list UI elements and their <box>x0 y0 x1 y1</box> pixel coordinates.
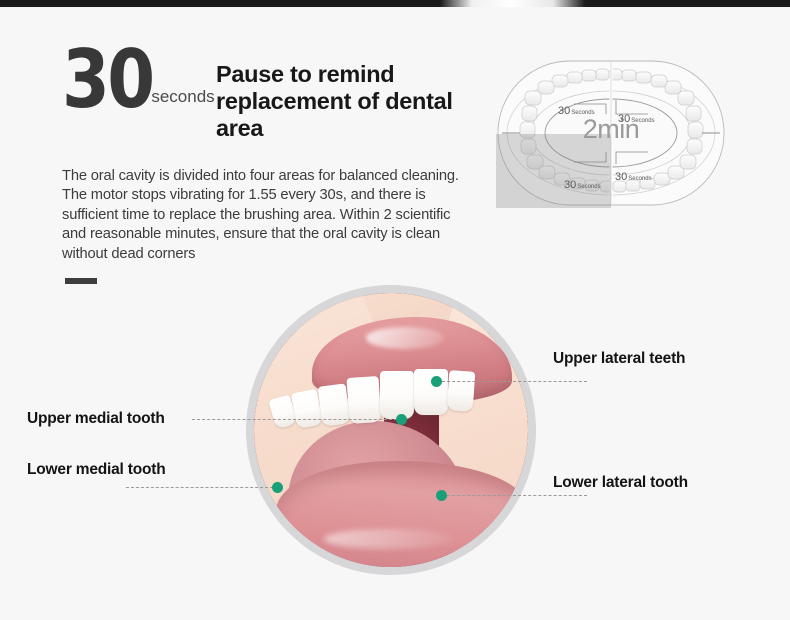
upper-tooth <box>346 376 381 424</box>
dental-arch-diagram: 2min 30Seconds 30Seconds 30Seconds 30Sec… <box>496 58 726 208</box>
page-title: Pause to remind replacement of dental ar… <box>216 61 456 141</box>
upper-tooth <box>380 371 414 419</box>
arch-segment-label-lower-right: 30Seconds <box>615 168 652 184</box>
callout-lower-medial-tooth: Lower medial tooth <box>27 461 166 479</box>
section-divider <box>65 278 97 284</box>
top-bar-highlight <box>440 0 585 7</box>
callout-upper-lateral-teeth: Upper lateral teeth <box>553 350 685 368</box>
lower-lip <box>276 461 526 567</box>
mouth-photo-image <box>254 293 528 567</box>
leader-line-upper-lateral <box>442 381 587 382</box>
segment-unit: Seconds <box>577 184 600 190</box>
leader-line-upper-medial <box>192 419 402 420</box>
headline-number-group: 30 seconds <box>62 46 215 113</box>
leader-line-lower-lateral <box>447 495 587 496</box>
segment-unit: Seconds <box>631 118 654 124</box>
segment-number: 30 <box>564 179 576 191</box>
callout-lower-lateral-tooth: Lower lateral tooth <box>553 474 688 492</box>
body-paragraph: The oral cavity is divided into four are… <box>62 167 467 265</box>
marker-dot-lower-medial <box>272 482 283 493</box>
upper-tooth <box>447 370 476 412</box>
segment-number: 30 <box>618 113 630 125</box>
arch-segment-label-upper-right: 30Seconds <box>618 110 655 126</box>
arch-segment-label-upper-left: 30Seconds <box>558 102 595 118</box>
seconds-unit-label: seconds <box>151 87 214 107</box>
segment-unit: Seconds <box>571 110 594 116</box>
marker-dot-upper-medial <box>396 414 407 425</box>
product-infographic-page: 30 seconds Pause to remind replacement o… <box>0 0 790 620</box>
upper-tooth <box>318 383 351 426</box>
upper-tooth <box>414 369 448 415</box>
big-number-30: 30 <box>62 46 153 113</box>
segment-number: 30 <box>558 105 570 117</box>
callout-upper-medial-tooth: Upper medial tooth <box>27 410 165 428</box>
mouth-photo-circle <box>246 285 536 575</box>
arch-segment-label-lower-left: 30Seconds <box>564 176 601 192</box>
segment-unit: Seconds <box>628 176 651 182</box>
marker-dot-lower-lateral <box>436 490 447 501</box>
arch-center-duration: 2min <box>496 114 726 145</box>
lower-lip-highlight <box>324 529 454 549</box>
marker-dot-upper-lateral <box>431 376 442 387</box>
leader-line-lower-medial <box>126 487 278 488</box>
top-accent-bar <box>0 0 790 7</box>
segment-number: 30 <box>615 171 627 183</box>
upper-lip-highlight <box>366 327 444 349</box>
